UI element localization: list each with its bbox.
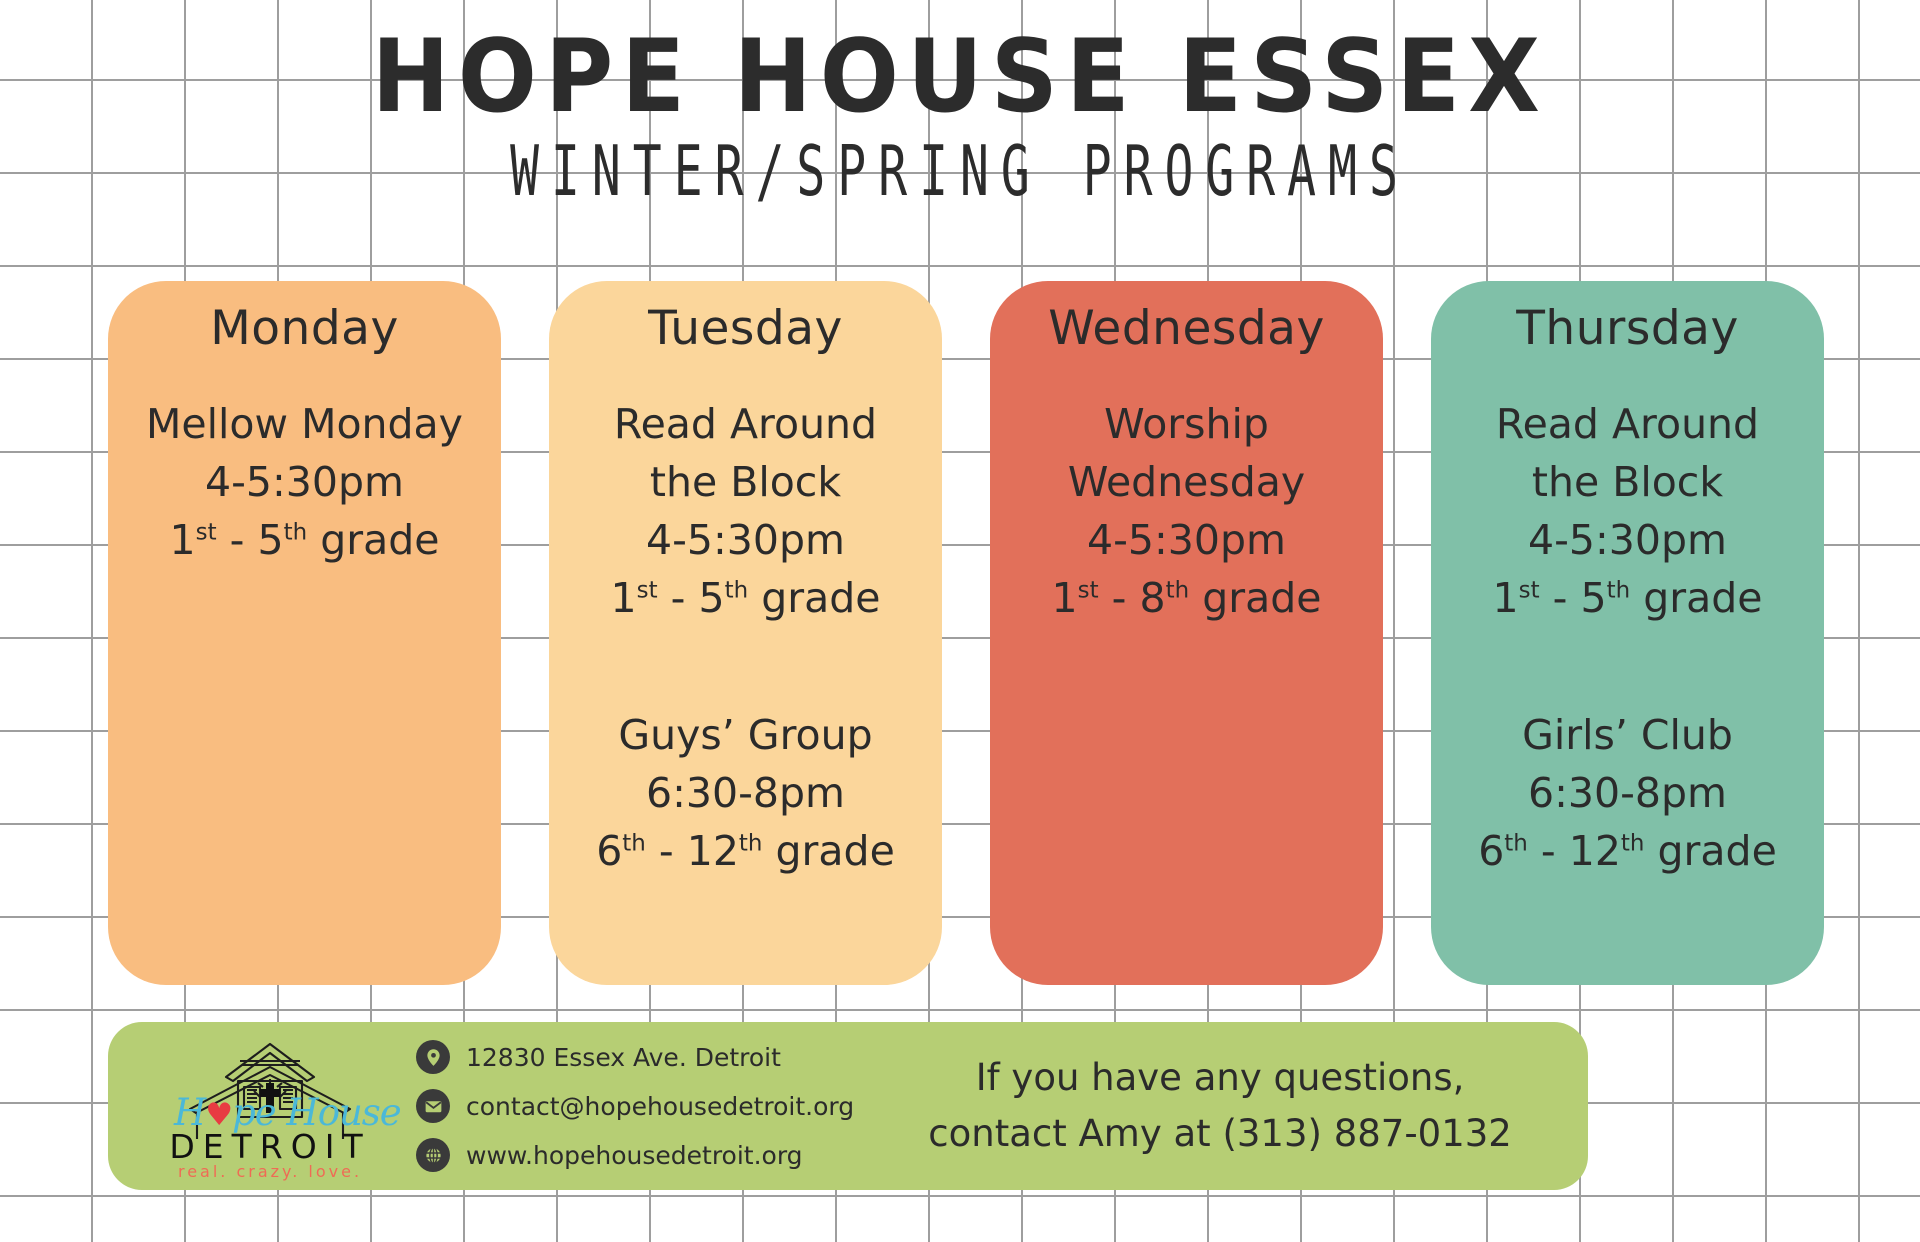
day-card-row: Monday Mellow Monday 4-5:30pm 1st - 5th … (108, 281, 1824, 985)
grade-to: 5 (1580, 574, 1606, 622)
envelope-icon (416, 1089, 450, 1123)
program-title-line: Wednesday (1004, 453, 1369, 511)
grade-to-ordinal: th (1621, 830, 1645, 856)
program-title-line: Worship (1004, 395, 1369, 453)
page-subtitle: WINTER/SPRING PROGRAMS (192, 131, 1728, 212)
contact-row-address: 12830 Essex Ave. Detroit (416, 1040, 854, 1074)
day-card-thursday: Thursday Read Around the Block 4-5:30pm … (1431, 281, 1824, 985)
grade-from-ordinal: th (622, 830, 646, 856)
program-time: 4-5:30pm (1004, 511, 1369, 569)
day-card-wednesday: Wednesday Worship Wednesday 4-5:30pm 1st… (990, 281, 1383, 985)
grade-to-ordinal: th (739, 830, 763, 856)
grade-from-ordinal: st (1078, 578, 1099, 604)
grade-to-ordinal: th (1166, 578, 1190, 604)
grade-dash: - (230, 516, 245, 564)
program-time: 4-5:30pm (1445, 511, 1810, 569)
grade-suffix: grade (761, 574, 880, 622)
program-block: Mellow Monday 4-5:30pm 1st - 5th grade (122, 395, 487, 570)
grade-from-ordinal: st (1519, 578, 1540, 604)
program-grade: 1st - 5th grade (1445, 569, 1810, 627)
grade-from: 1 (611, 574, 637, 622)
day-title-monday: Monday (122, 303, 487, 355)
grade-to: 12 (1569, 827, 1621, 875)
program-title-line: Guys’ Group (563, 706, 928, 764)
grade-dash: - (1112, 574, 1127, 622)
grade-dash: - (659, 827, 674, 875)
program-block: Girls’ Club 6:30-8pm 6th - 12th grade (1445, 706, 1810, 881)
poster-header: HOPE HOUSE ESSEX WINTER/SPRING PROGRAMS (0, 22, 1920, 207)
grade-from: 6 (1478, 827, 1504, 875)
program-time: 4-5:30pm (122, 453, 487, 511)
grade-from: 1 (170, 516, 196, 564)
poster-canvas: HOPE HOUSE ESSEX WINTER/SPRING PROGRAMS … (0, 0, 1920, 1242)
grade-to-ordinal: th (284, 519, 308, 545)
questions-note-line1: If you have any questions, (874, 1050, 1566, 1106)
grade-to: 5 (698, 574, 724, 622)
program-block: Guys’ Group 6:30-8pm 6th - 12th grade (563, 706, 928, 881)
grade-suffix: grade (1658, 827, 1777, 875)
program-title-line: Read Around (1445, 395, 1810, 453)
grade-from: 1 (1052, 574, 1078, 622)
page-title: HOPE HOUSE ESSEX (77, 22, 1843, 131)
day-title-thursday: Thursday (1445, 303, 1810, 355)
grade-suffix: grade (1643, 574, 1762, 622)
grade-from-ordinal: th (1504, 830, 1528, 856)
questions-note: If you have any questions, contact Amy a… (854, 1050, 1566, 1162)
program-grade: 1st - 5th grade (122, 511, 487, 569)
contact-list: 12830 Essex Ave. Detroit contact@hopehou… (416, 1040, 854, 1172)
program-time: 6:30-8pm (1445, 764, 1810, 822)
contact-address-text: 12830 Essex Ave. Detroit (466, 1043, 781, 1072)
program-grade: 6th - 12th grade (1445, 822, 1810, 880)
program-title-line: the Block (1445, 453, 1810, 511)
program-block: Read Around the Block 4-5:30pm 1st - 5th… (1445, 395, 1810, 628)
contact-row-email[interactable]: contact@hopehousedetroit.org (416, 1089, 854, 1123)
grade-suffix: grade (1202, 574, 1321, 622)
logo-tagline: real. crazy. love. (164, 1162, 376, 1181)
program-grade: 6th - 12th grade (563, 822, 928, 880)
grade-from-ordinal: st (637, 578, 658, 604)
contact-email-text: contact@hopehousedetroit.org (466, 1092, 854, 1121)
grade-dash: - (671, 574, 686, 622)
globe-icon (416, 1138, 450, 1172)
globe-glyph (423, 1145, 444, 1166)
grade-from-ordinal: st (196, 519, 217, 545)
grade-from: 1 (1493, 574, 1519, 622)
grade-to: 12 (687, 827, 739, 875)
day-card-tuesday: Tuesday Read Around the Block 4-5:30pm 1… (549, 281, 942, 985)
program-grade: 1st - 8th grade (1004, 569, 1369, 627)
location-pin-glyph (423, 1047, 444, 1068)
program-block: Read Around the Block 4-5:30pm 1st - 5th… (563, 395, 928, 628)
grade-to-ordinal: th (725, 578, 749, 604)
program-title-line: Read Around (563, 395, 928, 453)
program-grade: 1st - 5th grade (563, 569, 928, 627)
grade-dash: - (1553, 574, 1568, 622)
program-block: Worship Wednesday 4-5:30pm 1st - 8th gra… (1004, 395, 1369, 628)
program-time: 4-5:30pm (563, 511, 928, 569)
logo-wordmark: DETROIT (164, 1127, 376, 1166)
grade-to: 8 (1139, 574, 1165, 622)
envelope-glyph (423, 1096, 444, 1117)
day-card-monday: Monday Mellow Monday 4-5:30pm 1st - 5th … (108, 281, 501, 985)
program-title-line: the Block (563, 453, 928, 511)
program-title-line: Mellow Monday (122, 395, 487, 453)
grade-suffix: grade (776, 827, 895, 875)
grade-suffix: grade (320, 516, 439, 564)
footer-banner: H♥pe House DETROIT real. crazy. love. 12… (108, 1022, 1588, 1190)
contact-row-website[interactable]: www.hopehousedetroit.org (416, 1138, 854, 1172)
program-time: 6:30-8pm (563, 764, 928, 822)
contact-website-text: www.hopehousedetroit.org (466, 1141, 803, 1170)
location-pin-icon (416, 1040, 450, 1074)
grade-to: 5 (257, 516, 283, 564)
day-title-tuesday: Tuesday (563, 303, 928, 355)
grade-dash: - (1541, 827, 1556, 875)
program-title-line: Girls’ Club (1445, 706, 1810, 764)
questions-note-line2: contact Amy at (313) 887-0132 (874, 1106, 1566, 1162)
day-title-wednesday: Wednesday (1004, 303, 1369, 355)
grade-from: 6 (596, 827, 622, 875)
hope-house-detroit-logo: H♥pe House DETROIT real. crazy. love. (164, 1031, 376, 1181)
grade-to-ordinal: th (1607, 578, 1631, 604)
